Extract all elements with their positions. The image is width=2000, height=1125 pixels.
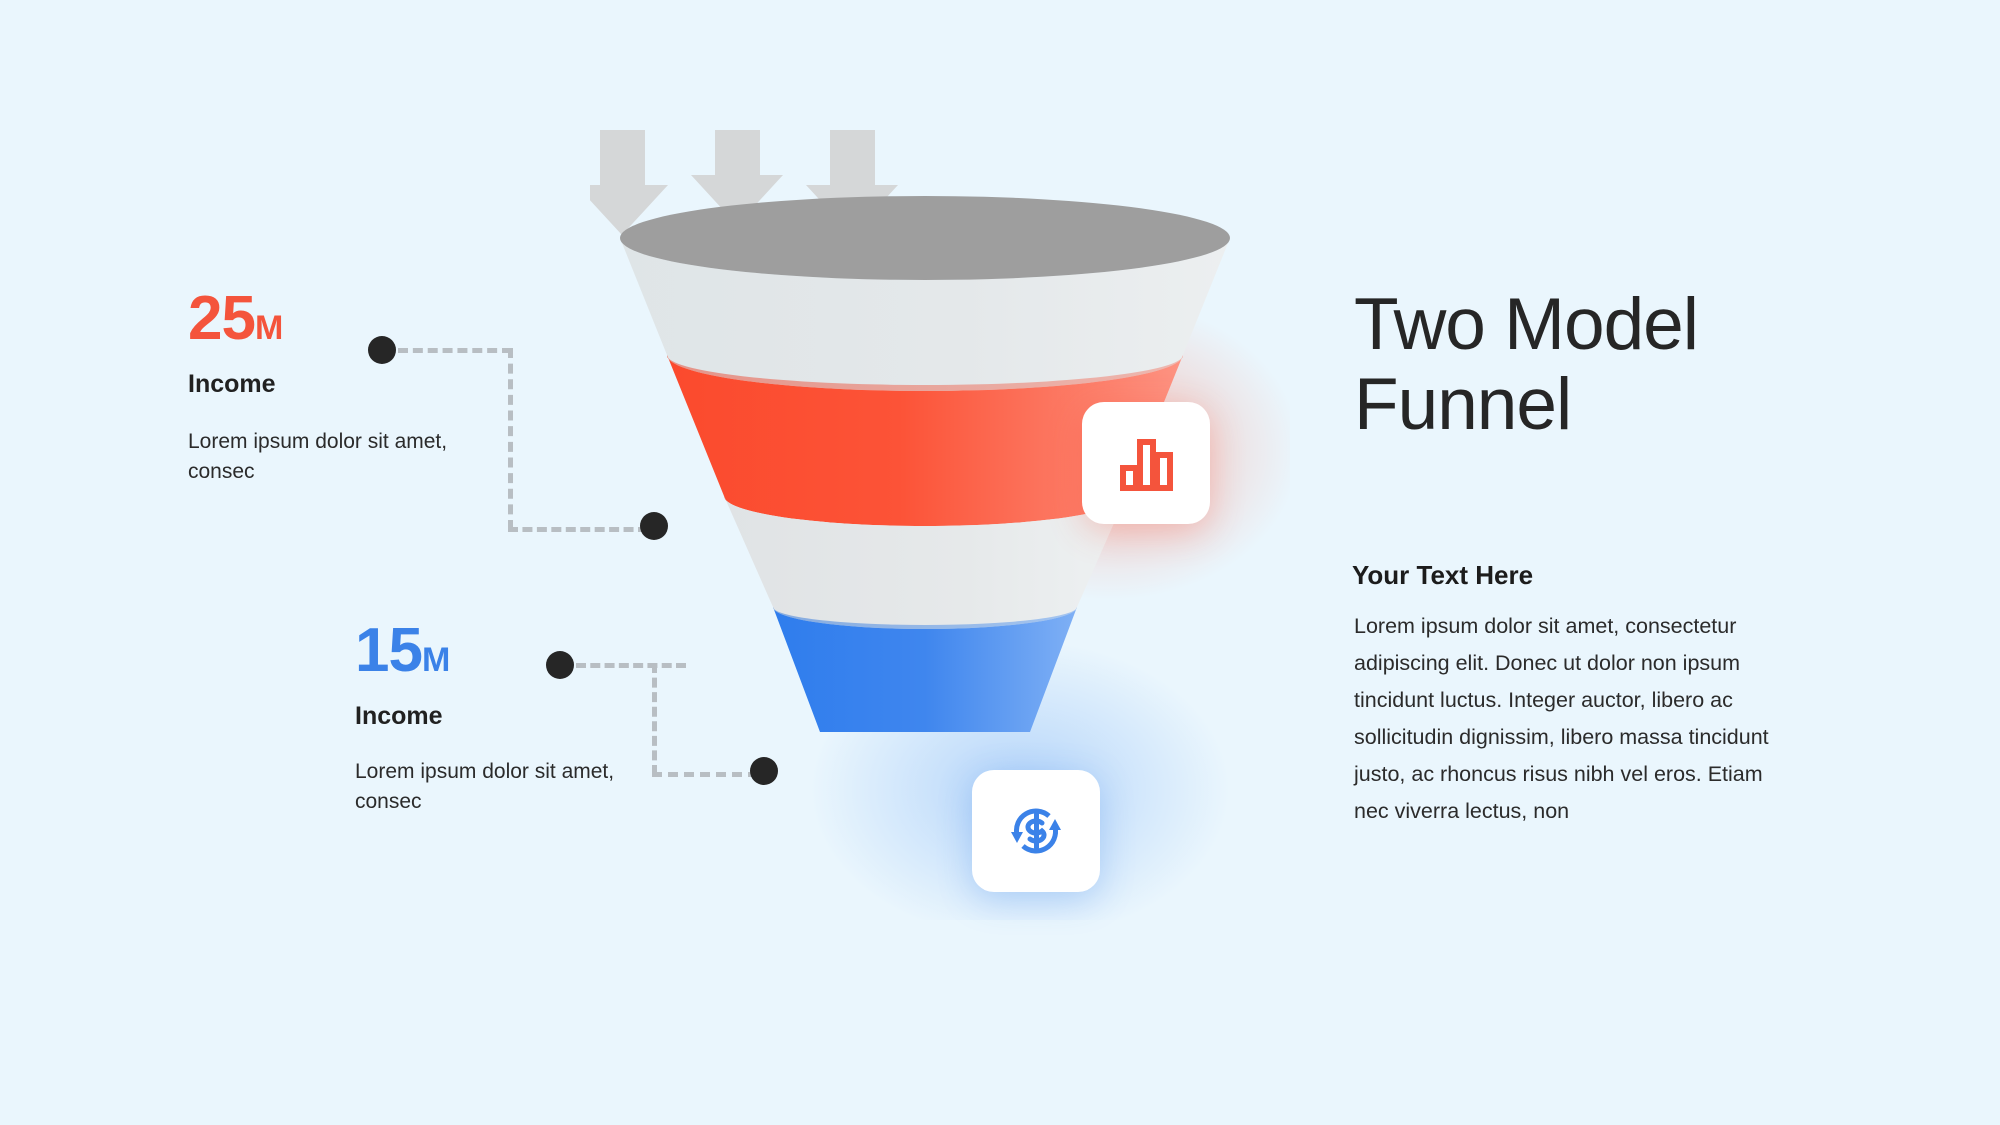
page-title: Two Model Funnel	[1354, 285, 1824, 446]
right-text-column: Two Model Funnel	[1354, 285, 1824, 446]
metric-block-income-25m: 25M Income Lorem ipsum dolor sit amet, c…	[188, 288, 458, 488]
slide-canvas: 25M Income Lorem ipsum dolor sit amet, c…	[0, 0, 2000, 1125]
connector-segment-2b	[652, 663, 657, 775]
bar-chart-icon	[1115, 432, 1177, 494]
metric-description-2: Lorem ipsum dolor sit amet, consec	[355, 757, 625, 818]
funnel-graphic	[590, 130, 1290, 920]
metric-number-2: 15	[355, 616, 422, 685]
connector-dot-funnel-1	[640, 512, 668, 540]
metric-description-1: Lorem ipsum dolor sit amet, consec	[188, 427, 458, 488]
metric-value-1: 25M	[188, 288, 458, 350]
bar-chart-icon-card[interactable]	[1082, 402, 1210, 524]
metric-block-income-15m: 15M Income Lorem ipsum dolor sit amet, c…	[355, 620, 625, 818]
metric-number-1: 25	[188, 284, 255, 353]
metric-unit-1: M	[255, 309, 283, 347]
metric-label-1: Income	[188, 372, 458, 397]
connector-dot-funnel-2	[750, 757, 778, 785]
section-subheading: Your Text Here	[1352, 560, 1533, 591]
funnel-svg	[590, 130, 1290, 920]
dollar-sign	[1028, 813, 1044, 849]
money-refresh-icon-card[interactable]	[972, 770, 1100, 892]
metric-label-2: Income	[355, 704, 625, 729]
money-refresh-icon	[1004, 799, 1068, 863]
refresh-arrow-right	[1049, 819, 1061, 830]
connector-segment-2c	[652, 772, 758, 777]
metric-unit-2: M	[422, 641, 450, 679]
connector-segment-1c	[508, 527, 648, 532]
metric-value-2: 15M	[355, 620, 625, 682]
connector-segment-1b	[508, 348, 513, 530]
funnel-top-rim	[620, 196, 1230, 280]
body-paragraph: Lorem ipsum dolor sit amet, consectetur …	[1354, 608, 1784, 830]
refresh-arrow-left	[1011, 832, 1023, 843]
